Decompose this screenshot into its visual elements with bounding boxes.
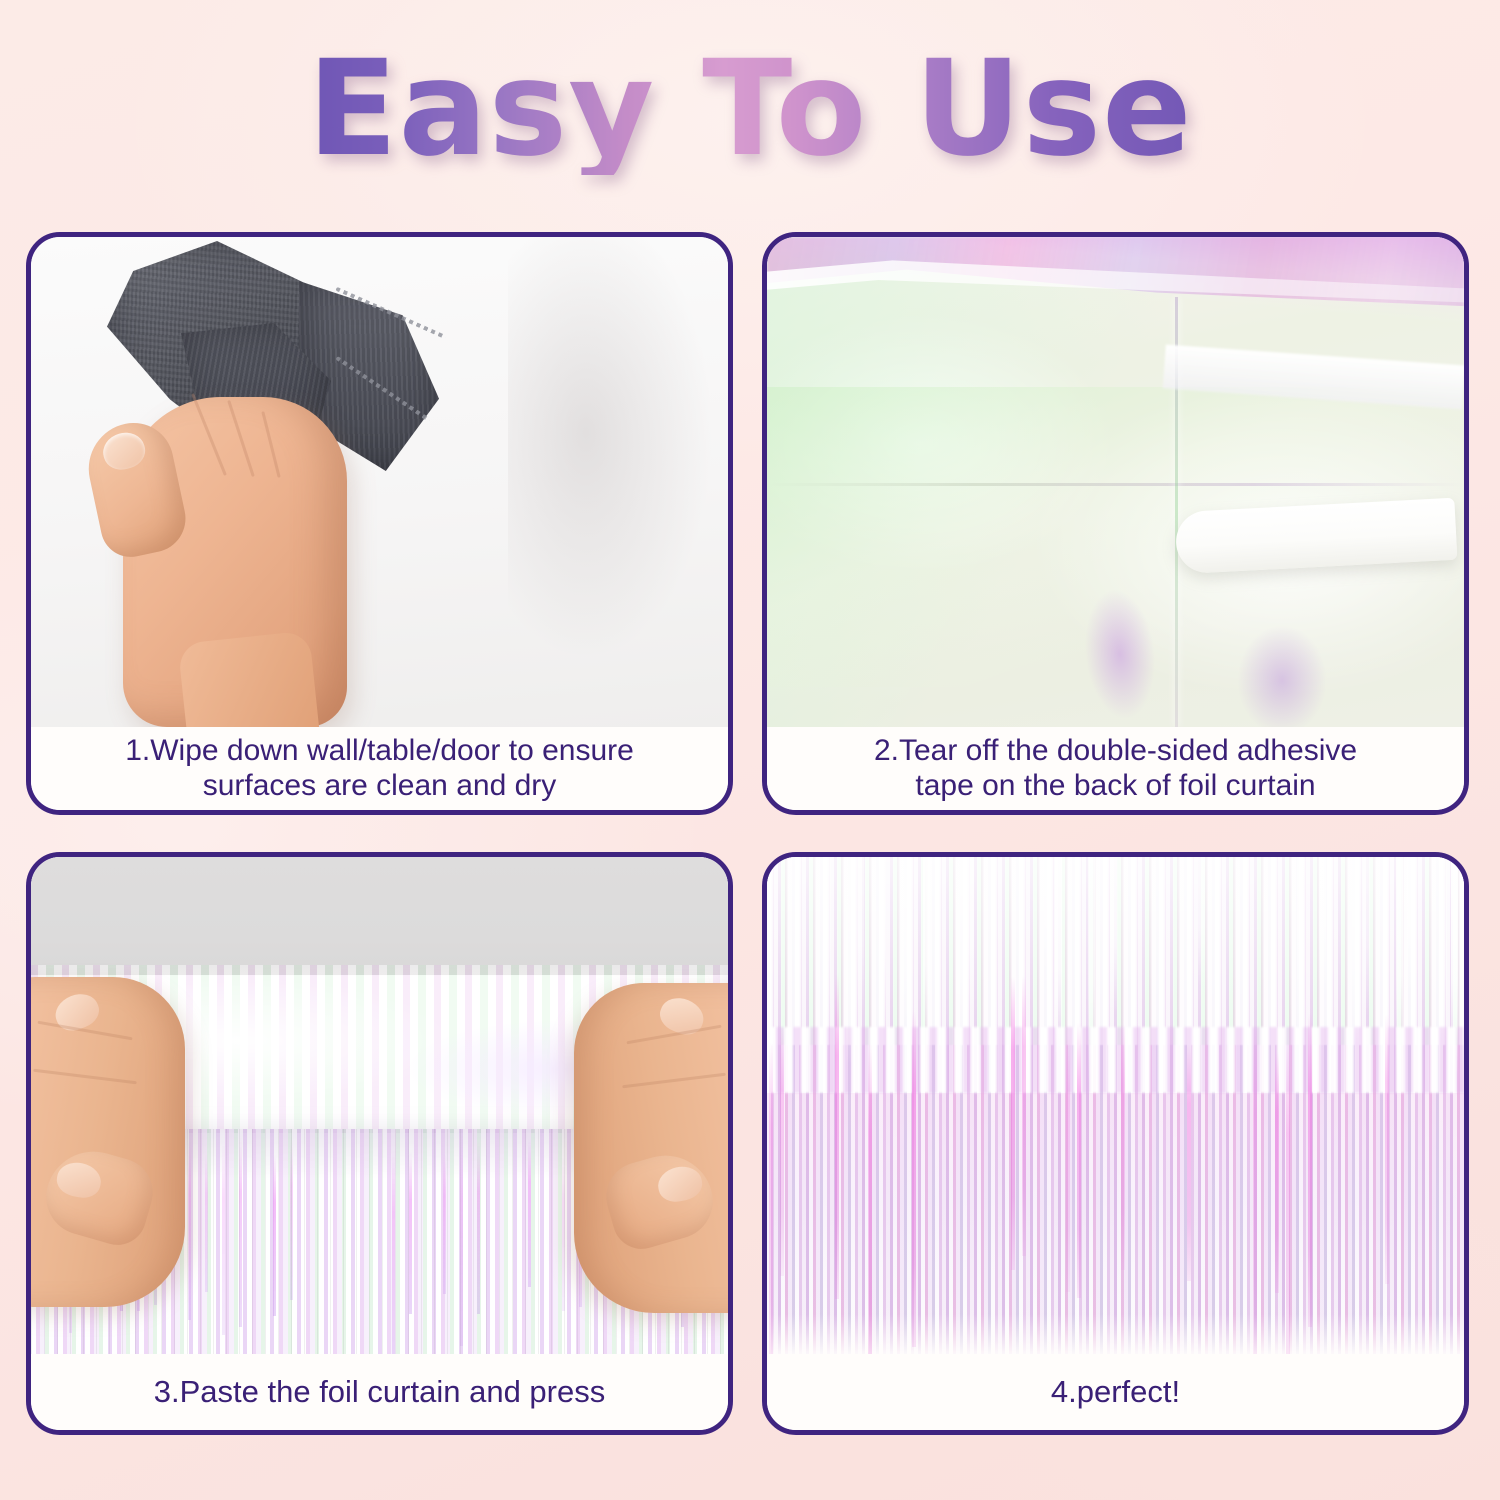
curtain-strand [1396,857,1403,1074]
iridescent-purple-highlight [1237,625,1327,727]
curtain-strand [1044,857,1051,978]
step-1-caption-text: 1.Wipe down wall/table/door to ensure su… [125,734,634,802]
step-1-caption-line-2: surfaces are clean and dry [125,769,634,803]
curtain-strand [1088,857,1095,1086]
fringe-strand-accent [290,1138,293,1300]
wall-shadow [508,237,728,727]
curtain-strand [1385,1014,1389,1285]
curtain-strand [824,857,831,1020]
curtain-strand [868,1048,872,1354]
step-2-caption-text: 2.Tear off the double-sided adhesive tap… [874,734,1357,802]
step-2-caption-line-2: tape on the back of foil curtain [874,769,1357,803]
fringe-strand-accent [222,1139,225,1335]
iridescent-top-edge [767,237,1464,333]
iridescent-purple-highlight [1078,586,1161,723]
fringe-strand-accent [392,1149,395,1354]
curtain-strand [857,857,864,1016]
fringe-strand-accent [205,1152,208,1293]
film-horizontal-crease [767,483,1464,486]
curtain-strand [1121,1024,1125,1270]
curtain-strand [912,1011,916,1347]
step-1-caption: 1.Wipe down wall/table/door to ensure su… [31,727,728,810]
curtain-strand [1187,1045,1191,1281]
curtain-strand [967,857,974,1013]
curtain-strand [1275,1052,1279,1292]
step-3-caption: 3.Paste the foil curtain and press [31,1354,728,1430]
wall-surface [31,857,728,975]
curtain-strand [846,857,853,1067]
right-hand-icon [574,983,728,1313]
fringe-strand-accent [239,1133,242,1326]
forearm [178,630,321,727]
page-title: Easy To Use [307,43,1192,175]
step-2-caption-line-1: 2.Tear off the double-sided adhesive [874,734,1357,768]
curtain-strand [1440,857,1447,1043]
step-3-photo [31,857,728,1354]
curtain-strand [1011,977,1015,1270]
step-card-4: 4.perfect! [762,852,1469,1435]
fringe-strand-accent [409,1150,412,1315]
curtain-strand [1451,857,1458,1078]
curtain-strand [1407,857,1414,995]
curtain-strand [956,857,963,1070]
double-sided-tape-icon [1175,498,1458,575]
curtain-strand [1297,857,1304,1047]
curtain-strand [1286,1048,1290,1354]
fringe-strand-accent [443,1154,446,1294]
tape-highlight [1163,345,1464,410]
curtain-strand [1253,1029,1257,1354]
curtain-strand [780,1027,784,1276]
page-title-container: Easy To Use [0,34,1500,184]
curtain-strand [1308,1013,1312,1327]
curtain-strand [901,857,908,1027]
curtain-strand [835,974,839,1299]
curtain-strand [1066,1036,1070,1291]
step-1-photo [31,237,728,727]
curtain-strand [1077,1023,1081,1298]
step-card-3: 3.Paste the foil curtain and press [26,852,733,1435]
fringe-strand-accent [528,1137,531,1287]
step-1-caption-line-1: 1.Wipe down wall/table/door to ensure [125,734,634,768]
fringe-strand-accent [188,1140,191,1320]
step-4-photo [767,857,1464,1354]
curtain-strand [1022,975,1026,1256]
curtain-strand [923,857,930,1054]
step-card-1: 1.Wipe down wall/table/door to ensure su… [26,232,733,815]
film-folded-edge [767,259,1464,329]
fringe-strand-accent [273,1154,276,1316]
curtain-strand [1110,857,1117,1013]
step-3-caption-text: 3.Paste the foil curtain and press [154,1374,605,1409]
fringe-strand-accent [562,1154,565,1312]
step-2-caption: 2.Tear off the double-sided adhesive tap… [767,727,1464,810]
curtain-strand [879,857,886,1025]
curtain-strand [1055,857,1062,1062]
step-card-2: 2.Tear off the double-sided adhesive tap… [762,232,1469,815]
step-2-photo [767,237,1464,727]
curtain-strand [1198,857,1205,986]
step-4-caption: 4.perfect! [767,1354,1464,1430]
curtain-strand [1352,857,1359,1045]
curtain-strand [1319,857,1326,991]
curtain-strand [769,1042,773,1354]
curtain-strand [1363,857,1370,1014]
instruction-graphic: Easy To Use 1.Wipe down wall/table/door … [0,0,1500,1500]
curtain-strand [1462,857,1464,1080]
step-4-caption-text: 4.perfect! [1051,1374,1180,1409]
fringe-strand-accent [460,1135,463,1346]
fringe-strand-accent [477,1140,480,1314]
